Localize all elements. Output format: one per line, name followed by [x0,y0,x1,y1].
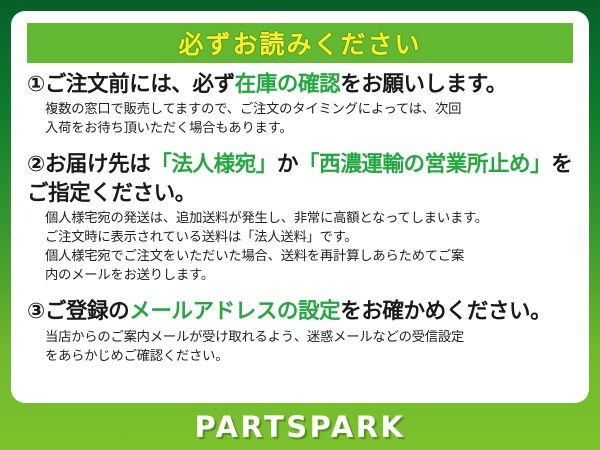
notice-item-3-subtext: 当店からのご案内メールが受け取れるよう、迷惑メールなどの受信設定 をあらかじめご… [45,329,575,367]
notice-item-3: ③ご登録のメールアドレスの設定をお確かめください。 当店からのご案内メールが受け… [27,298,575,366]
title-bar: 必ずお読みください [27,23,573,63]
notice-item-2-text-b: 「法人様宛」 [150,152,277,177]
notice-item-2: ②お届け先は「法人様宛」か「西濃運輸の営業所止め」をご指定ください。 個人様宅宛… [27,151,575,285]
notice-item-1-headline: ①ご注文前には、必ず在庫の確認をお願いします。 [27,71,575,99]
brand-logo-text: PARTSPARK [194,410,405,444]
notice-item-3-subline-1: 当店からのご案内メールが受け取れるよう、迷惑メールなどの受信設定 [45,329,575,348]
notice-item-2-text-c: か [277,152,298,177]
notice-item-2-subline-3: 個人様宅宛でご注文をいただいた場合、送料を再計算しあらためてご案 [45,248,575,267]
notice-item-1-marker: ① [27,72,45,97]
notice-card: 必ずお読みください ①ご注文前には、必ず在庫の確認をお願いします。 複数の窓口で… [11,11,589,403]
footer-brand-bar: PARTSPARK [0,404,600,450]
notice-banner: 必ずお読みください ①ご注文前には、必ず在庫の確認をお願いします。 複数の窓口で… [0,0,600,450]
notice-item-1: ①ご注文前には、必ず在庫の確認をお願いします。 複数の窓口で販売してますので、ご… [27,71,575,139]
notice-item-2-text-d: 「西濃運輸の営業所止め」 [298,152,551,177]
notice-item-1-text-b: 在庫の確認 [235,72,341,97]
notice-item-2-subline-4: 内のメールをお送りします。 [45,267,575,286]
notice-item-3-text-b: メールアドレスの設定 [129,299,340,324]
page-title: 必ずお読みください [178,25,421,61]
notice-item-2-text-a: お届け先は [45,152,151,177]
notice-item-3-marker: ③ [27,299,45,324]
notice-item-2-subtext: 個人様宅宛の発送は、追加送料が発生し、非常に高額となってしまいます。 ご注文時に… [45,210,575,286]
notice-item-1-text-c: をお願いします。 [340,72,507,97]
notice-item-1-subline-1: 複数の窓口で販売してますので、ご注文のタイミングによっては、次回 [45,101,575,120]
notice-item-2-subline-1: 個人様宅宛の発送は、追加送料が発生し、非常に高額となってしまいます。 [45,210,575,229]
notice-item-1-subline-2: 入荷をお待ち頂いただく場合もあります。 [45,120,575,139]
notice-item-3-headline: ③ご登録のメールアドレスの設定をお確かめください。 [27,298,575,326]
notice-item-1-text-a: ご注文前には、必ず [45,72,235,97]
notice-item-3-text-c: をお確かめください。 [340,299,551,324]
notice-item-2-subline-2: ご注文時に表示されている送料は「法人送料」です。 [45,229,575,248]
notice-item-2-headline: ②お届け先は「法人様宛」か「西濃運輸の営業所止め」をご指定ください。 [27,151,575,208]
notice-item-3-subline-2: をあらかじめご確認ください。 [45,348,575,367]
notice-body: ①ご注文前には、必ず在庫の確認をお願いします。 複数の窓口で販売してますので、ご… [11,69,589,369]
notice-item-2-marker: ② [27,152,45,177]
notice-item-3-text-a: ご登録の [45,299,129,324]
notice-item-1-subtext: 複数の窓口で販売してますので、ご注文のタイミングによっては、次回 入荷をお待ち頂… [45,101,575,139]
